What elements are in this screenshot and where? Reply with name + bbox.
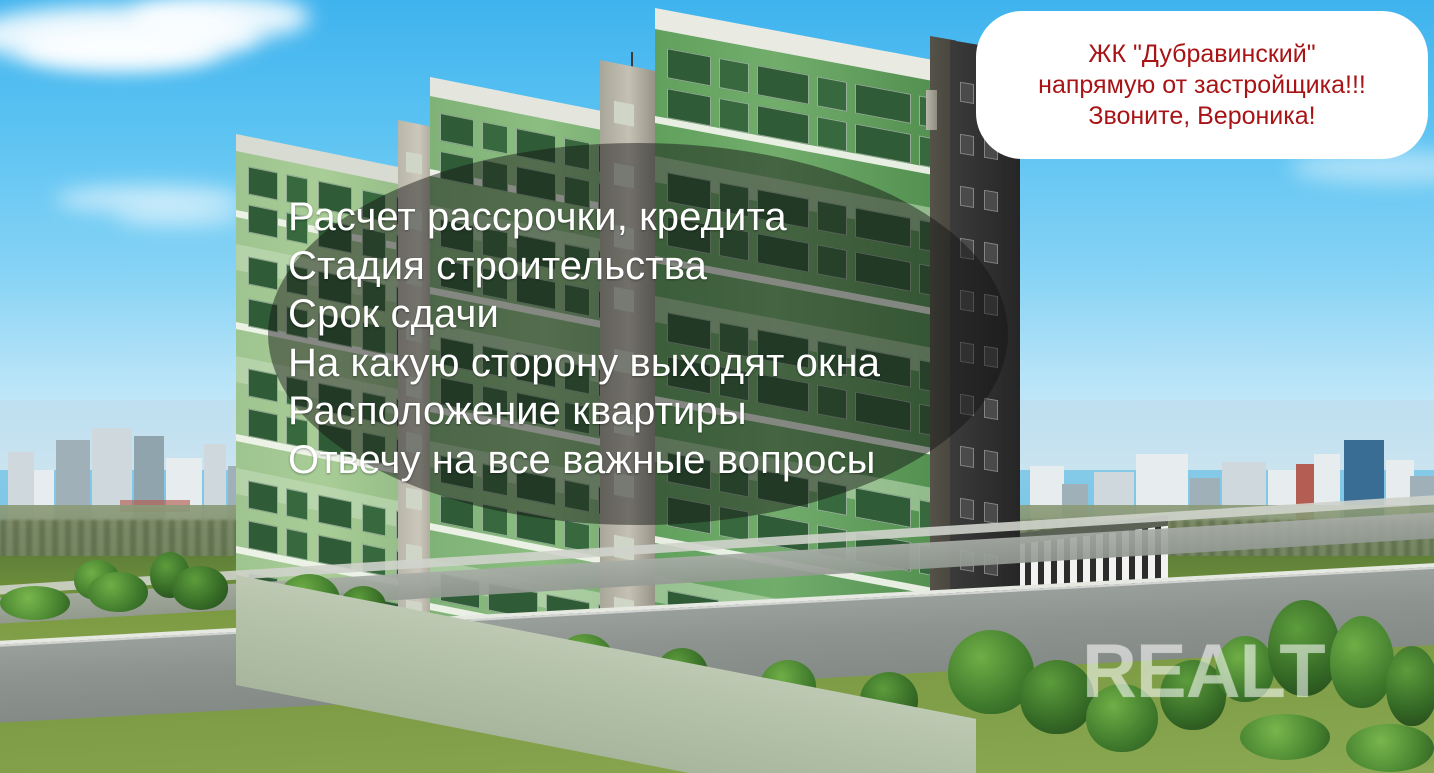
overlay-line-6: Отвечу на все важные вопросы [288, 436, 1008, 485]
overlay-line-2: Стадия строительства [288, 242, 1008, 291]
tree [1386, 646, 1434, 726]
callout-bubble: ЖК "Дубравинский" напрямую от застройщик… [976, 11, 1428, 159]
advertisement-image: REALT Расчет рассрочки, кредита Стадия с… [0, 0, 1434, 773]
shrub [1240, 714, 1330, 760]
callout-line-3: Звоните, Вероника! [1038, 101, 1366, 132]
shrub [0, 586, 70, 620]
realt-watermark: REALT [1082, 628, 1325, 715]
callout-line-1: ЖК "Дубравинский" [1038, 39, 1366, 70]
shrub [1346, 724, 1434, 772]
callout-line-2: напрямую от застройщика!!! [1038, 70, 1366, 101]
roof-vent-pipe [926, 90, 937, 130]
overlay-line-4: На какую сторону выходят окна [288, 339, 1008, 388]
tree [172, 566, 228, 610]
overlay-line-5: Расположение квартиры [288, 387, 1008, 436]
cloud [115, 205, 245, 227]
overlay-line-3: Срок сдачи [288, 290, 1008, 339]
overlay-line-1: Расчет рассрочки, кредита [288, 193, 1008, 242]
tree [88, 572, 148, 612]
callout-text: ЖК "Дубравинский" напрямую от застройщик… [1028, 39, 1376, 132]
tree [1330, 616, 1394, 708]
overlay-text-block: Расчет рассрочки, кредита Стадия строите… [288, 193, 1008, 484]
